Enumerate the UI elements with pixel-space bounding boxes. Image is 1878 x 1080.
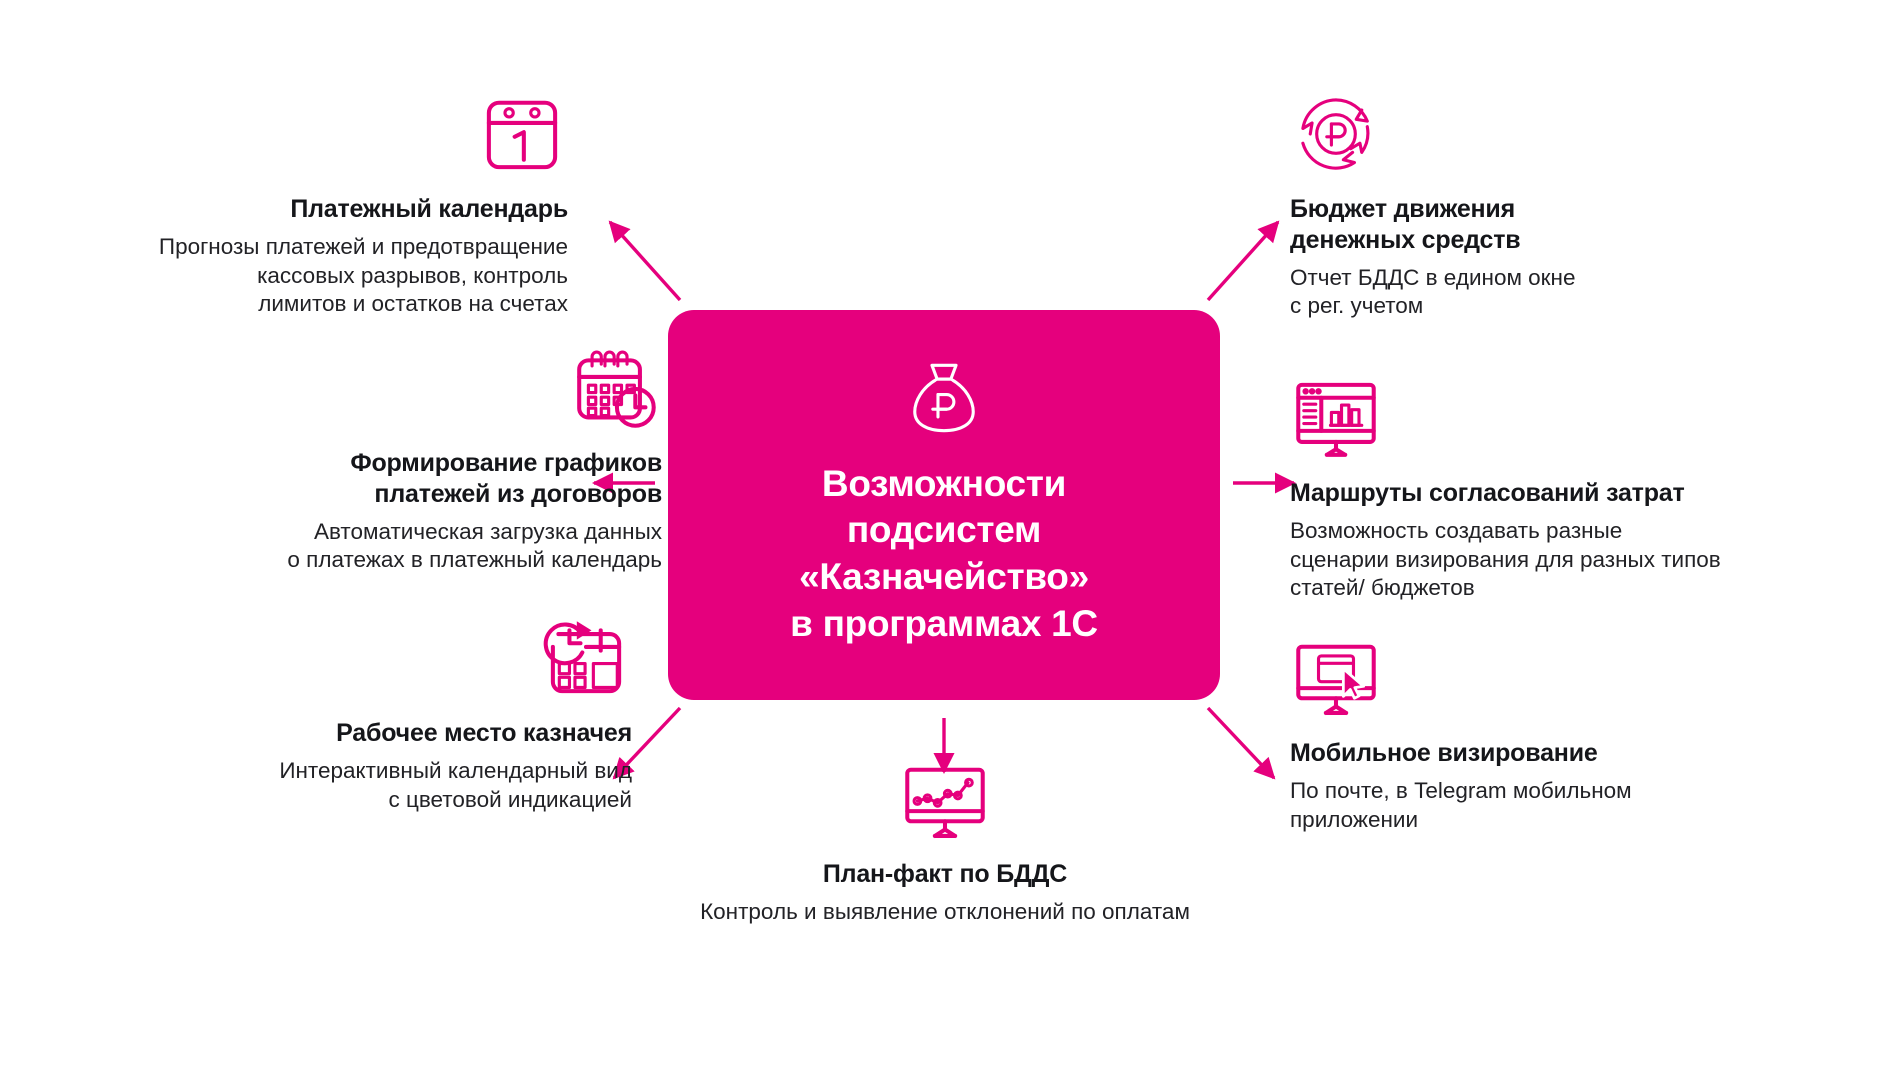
node-mobile-visa: Мобильное визирование По почте, в Telegr…: [1290, 632, 1830, 834]
calendar-refresh-grid-icon: [540, 612, 632, 704]
center-card: Возможности подсистем «Казначейство» в п…: [668, 310, 1220, 700]
node-title: Платежный календарь: [48, 194, 568, 225]
node-cashflow-budget: Бюджет движения денежных средств Отчет Б…: [1290, 88, 1830, 321]
cash-flow-circular-ruble-icon: [1290, 88, 1382, 180]
node-title: Рабочее место казначея: [112, 718, 632, 749]
node-title: Бюджет движения денежных средств: [1290, 194, 1830, 256]
arrow-to-cashflow-budget: [1208, 222, 1278, 300]
node-plan-fact: План-факт по БДДС Контроль и выявление о…: [605, 755, 1285, 927]
node-description: Прогнозы платежей и предотвращение кассо…: [48, 233, 568, 319]
center-card-title: Возможности подсистем «Казначейство» в п…: [790, 461, 1098, 647]
node-description: Контроль и выявление отклонений по оплат…: [605, 898, 1285, 927]
node-title: Маршруты согласований затрат: [1290, 478, 1850, 509]
node-approval-routes: Маршруты согласований затрат Возможность…: [1290, 372, 1850, 603]
node-title: Формирование графиков платежей из догово…: [142, 448, 662, 510]
calendar-clock-icon: [570, 342, 662, 434]
monitor-line-chart-icon: [899, 755, 991, 847]
calendar-day-one-icon: [476, 88, 568, 180]
arrow-to-payment-calendar: [610, 222, 680, 300]
node-description: По почте, в Telegram мобильном приложени…: [1290, 777, 1830, 835]
treasury-capabilities-infographic: Возможности подсистем «Казначейство» в п…: [0, 0, 1878, 1080]
money-bag-ruble-icon: [901, 355, 987, 441]
node-description: Автоматическая загрузка данных о платежа…: [142, 518, 662, 576]
node-description: Возможность создавать разные сценарии ви…: [1290, 517, 1850, 603]
monitor-bar-chart-icon: [1290, 372, 1382, 464]
monitor-window-cursor-icon: [1290, 632, 1382, 724]
node-title: План-факт по БДДС: [605, 859, 1285, 890]
node-payment-schedules: Формирование графиков платежей из догово…: [142, 342, 662, 575]
node-title: Мобильное визирование: [1290, 738, 1830, 769]
node-payment-calendar: Платежный календарь Прогнозы платежей и …: [48, 88, 568, 319]
node-treasurer-desk: Рабочее место казначея Интерактивный кал…: [112, 612, 632, 814]
node-description: Отчет БДДС в едином окне с рег. учетом: [1290, 264, 1830, 322]
node-description: Интерактивный календарный вид с цветовой…: [112, 757, 632, 815]
